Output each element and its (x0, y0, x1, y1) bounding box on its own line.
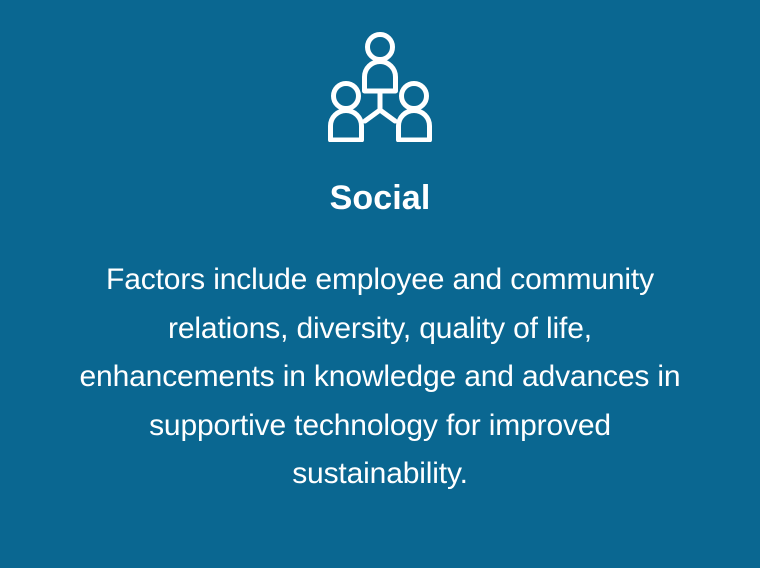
description-line: enhancements in knowledge and advances i… (24, 353, 736, 402)
description-line: Factors include employee and community (24, 256, 736, 305)
person-right-icon (399, 84, 430, 141)
social-icon-container (0, 30, 760, 150)
person-top-icon (365, 35, 396, 92)
description-line: relations, diversity, quality of life, (24, 305, 736, 354)
card-description: Factors include employee and community r… (24, 256, 736, 499)
social-people-network-icon (327, 30, 433, 142)
connector-y-icon (365, 93, 395, 121)
description-line: sustainability. (24, 450, 736, 499)
social-info-card: Social Factors include employee and comm… (0, 0, 760, 568)
person-left-icon (331, 84, 362, 141)
card-title: Social (0, 176, 760, 220)
description-line: supportive technology for improved (24, 402, 736, 451)
